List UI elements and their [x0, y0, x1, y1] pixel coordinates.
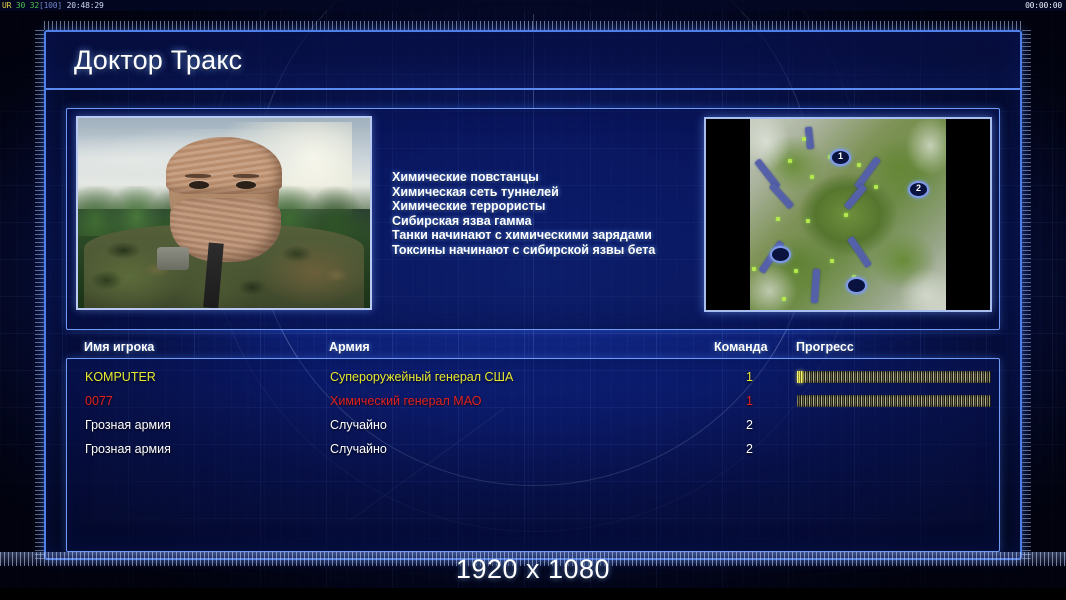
player-progress-bar [797, 371, 991, 383]
column-header-team: Команда [714, 340, 768, 354]
minimap-letterbox-right [946, 119, 990, 310]
player-name[interactable]: Грозная армия [85, 437, 171, 461]
player-army[interactable]: Случайно [330, 437, 387, 461]
player-army[interactable]: Супероружейный генерал США [330, 365, 513, 389]
player-team[interactable]: 1 [746, 365, 753, 389]
minimap[interactable]: 1 2 [704, 117, 992, 312]
player-name[interactable]: 0077 [85, 389, 113, 413]
minimap-supply-point [806, 219, 810, 223]
portrait-image [78, 118, 370, 308]
minimap-supply-point [874, 185, 878, 189]
player-team[interactable]: 1 [746, 389, 753, 413]
table-row[interactable]: KOMPUTER Супероружейный генерал США 1 [67, 365, 999, 389]
portrait-pouch [157, 247, 189, 270]
minimap-supply-point [794, 269, 798, 273]
minimap-supply-point [844, 213, 848, 217]
minimap-start-position-1[interactable]: 1 [830, 149, 851, 166]
portrait-eyebrow-left [185, 174, 211, 178]
page-title: Доктор Тракс [74, 45, 242, 76]
player-name[interactable]: KOMPUTER [85, 365, 156, 389]
minimap-start-position-2[interactable]: 2 [908, 181, 929, 198]
table-row[interactable]: Грозная армия Случайно 2 [67, 437, 999, 461]
portrait-eyebrow-right [233, 174, 259, 178]
player-progress-bar [797, 395, 991, 407]
player-progress-fill [797, 371, 803, 383]
player-name[interactable]: Грозная армия [85, 413, 171, 437]
column-header-army: Армия [329, 340, 370, 354]
general-description: Химические повстанцы Химическая сеть тун… [392, 170, 692, 258]
player-army[interactable]: Химический генерал МАО [330, 389, 481, 413]
description-line: Танки начинают с химическими зарядами [392, 228, 692, 243]
bottom-letterbox [0, 588, 1066, 600]
minimap-start-position-4[interactable] [846, 277, 867, 294]
status-value-a: 30 [16, 1, 25, 10]
minimap-supply-point [857, 163, 861, 167]
minimap-supply-point [802, 137, 806, 141]
player-team[interactable]: 2 [746, 437, 753, 461]
status-value-b: 32 [30, 1, 39, 10]
description-line: Химические повстанцы [392, 170, 692, 185]
minimap-supply-point [830, 259, 834, 263]
status-bracket-value: [100] [39, 1, 62, 10]
minimap-letterbox-left [706, 119, 750, 310]
resolution-text: 1920 x 1080 [0, 554, 1066, 585]
player-team[interactable]: 2 [746, 413, 753, 437]
column-header-name: Имя игрока [84, 340, 154, 354]
description-line: Химическая сеть туннелей [392, 185, 692, 200]
portrait-eye-left [189, 181, 209, 189]
players-table-header: Имя игрока Армия Команда Прогресс [66, 340, 1000, 358]
description-line: Химические террористы [392, 199, 692, 214]
column-header-progress: Прогресс [796, 340, 854, 354]
title-bar: Доктор Тракс [46, 32, 1020, 90]
minimap-start-position-3[interactable] [770, 246, 791, 263]
game-lobby-screen: UR 30 32[100] 20:48:29 00:00:00 Доктор Т… [0, 0, 1066, 600]
status-prefix: UR [2, 1, 11, 10]
minimap-supply-point [776, 217, 780, 221]
status-clock: 20:48:29 [67, 1, 104, 10]
player-army[interactable]: Случайно [330, 413, 387, 437]
minimap-supply-point [782, 297, 786, 301]
description-line: Сибирская язва гамма [392, 214, 692, 229]
general-portrait [76, 116, 372, 310]
description-line: Токсины начинают с сибирской язвы бета [392, 243, 692, 258]
status-bar-left: UR 30 32[100] 20:48:29 [2, 0, 104, 11]
status-bar-right-clock: 00:00:00 [1025, 0, 1062, 11]
table-row[interactable]: Грозная армия Случайно 2 [67, 413, 999, 437]
portrait-eye-right [236, 181, 256, 189]
minimap-supply-point [752, 267, 756, 271]
minimap-supply-point [788, 159, 792, 163]
table-row[interactable]: 0077 Химический генерал МАО 1 [67, 389, 999, 413]
minimap-supply-point [810, 175, 814, 179]
status-bar: UR 30 32[100] 20:48:29 00:00:00 [0, 0, 1066, 11]
players-table: KOMPUTER Супероружейный генерал США 1 00… [66, 358, 1000, 552]
